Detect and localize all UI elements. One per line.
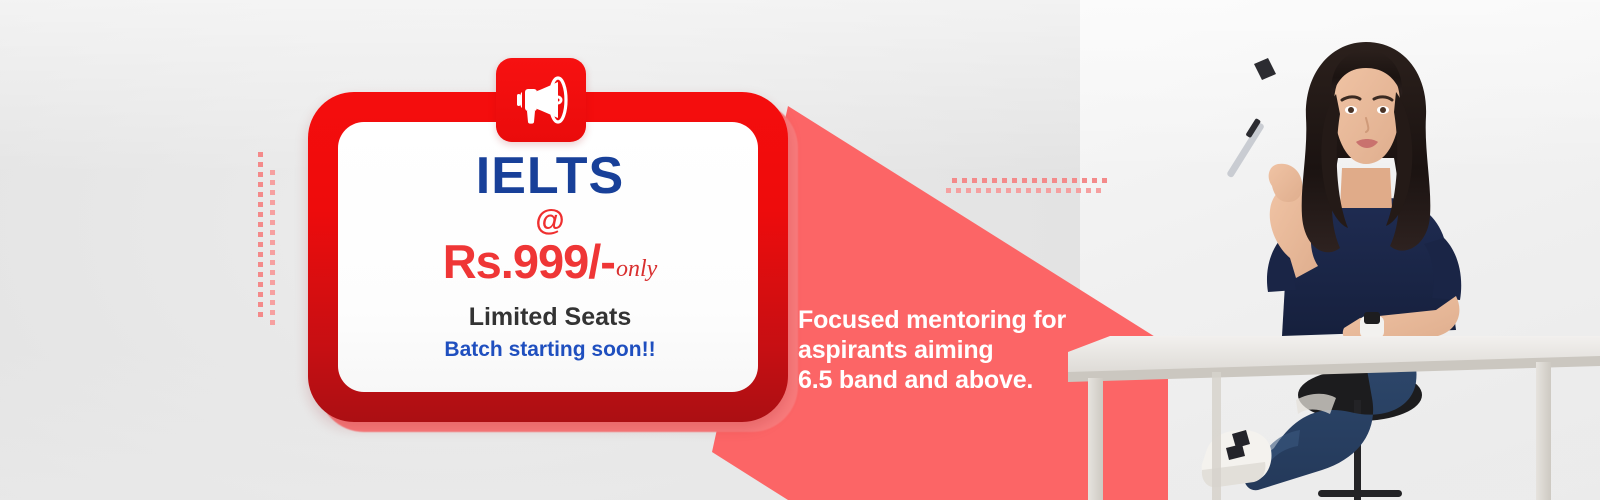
decorative-dot [270,180,275,185]
decorative-dot [258,172,263,177]
decorative-dot [258,192,263,197]
decorative-dot [976,188,981,193]
decorative-dot [258,232,263,237]
decorative-dot [1016,188,1021,193]
decorative-dot [270,300,275,305]
decorative-dot [270,290,275,295]
decorative-dot [258,312,263,317]
decorative-dot [258,242,263,247]
megaphone-badge [496,58,586,142]
decorative-dot [1022,178,1027,183]
batch-starting-label: Batch starting soon!! [444,339,655,360]
decorative-dot [1052,178,1057,183]
decorative-dot [270,260,275,265]
decorative-dot [270,170,275,175]
decorative-dot [258,162,263,167]
decorative-dot [270,320,275,325]
decorative-dot [946,188,951,193]
decorative-dot [258,202,263,207]
neck [1340,168,1392,208]
decorative-dot [956,188,961,193]
price-value: Rs.999/- [443,238,615,285]
price-suffix: only [616,257,657,281]
decorative-dot [258,262,263,267]
price-row: Rs.999/- only [443,238,658,285]
course-title: IELTS [476,150,624,202]
offer-speech-bubble: IELTS @ Rs.999/- only Limited Seats Batc… [300,88,800,488]
decorative-dot [270,280,275,285]
decorative-dot [258,152,263,157]
decorative-dot [1046,188,1051,193]
decorative-dot [258,292,263,297]
decorative-dot [992,178,997,183]
decorative-dot [258,272,263,277]
decorative-dot [258,252,263,257]
decorative-dot [258,182,263,187]
decorative-dot [270,210,275,215]
decorative-dot [1026,188,1031,193]
megaphone-icon [513,76,569,124]
decorative-dot [966,188,971,193]
decorative-dot [258,282,263,287]
decorative-dot [270,240,275,245]
decorative-dot [1042,178,1047,183]
decorative-dot [270,230,275,235]
decorative-dot [986,188,991,193]
decorative-dot [996,188,1001,193]
decorative-dot [270,220,275,225]
student-photo [1060,0,1600,500]
decorative-dot [1006,188,1011,193]
pen [1226,58,1276,178]
decorative-dot [258,222,263,227]
at-symbol: @ [535,206,564,236]
bubble-content: IELTS @ Rs.999/- only Limited Seats Batc… [330,126,770,458]
decorative-dot [258,212,263,217]
decorative-dot [1036,188,1041,193]
decorative-dot [270,200,275,205]
limited-seats-label: Limited Seats [469,305,632,330]
decorative-dot [972,178,977,183]
ielts-offer-banner: IELTS @ Rs.999/- only Limited Seats Batc… [0,0,1600,500]
decorative-dot [270,250,275,255]
decorative-dot [270,190,275,195]
decorative-dot [952,178,957,183]
decorative-dot [982,178,987,183]
left-dot-column-a [258,152,266,312]
decorative-dot [270,310,275,315]
decorative-dot [1002,178,1007,183]
decorative-dot [1012,178,1017,183]
decorative-dot [270,270,275,275]
decorative-dot [962,178,967,183]
decorative-dot [1032,178,1037,183]
left-dot-column-b [270,170,278,330]
decorative-dot [258,302,263,307]
